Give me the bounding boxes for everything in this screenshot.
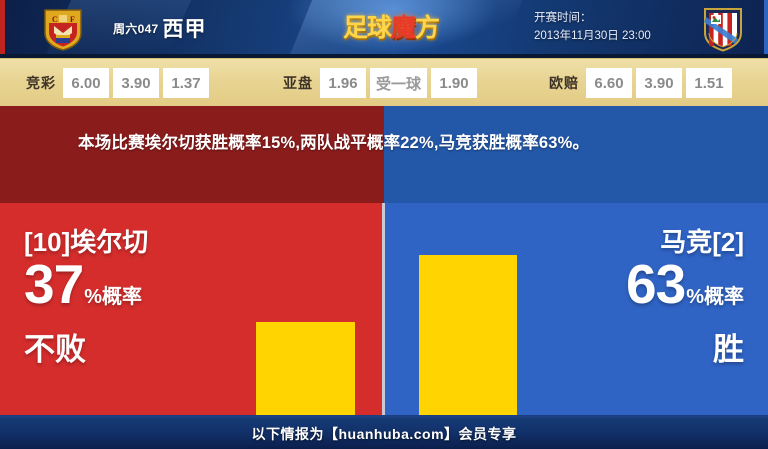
probability-chart: [10]埃尔切 37%概率 不败 马竞[2] 63%概率 胜 (0, 203, 768, 415)
kickoff-label: 开赛时间： (534, 9, 651, 27)
away-probability-bar (419, 255, 517, 415)
logo-text-part3: 方 (415, 14, 439, 42)
odds-cell[interactable]: 3.90 (113, 68, 159, 98)
match-forecast-card: C F 周六047西甲 足球魔方 开赛时间： 2013年11月30日 23:00 (0, 0, 768, 449)
round-label: 周六047 (113, 22, 159, 36)
svg-text:F: F (70, 15, 75, 24)
kickoff-time: 开赛时间： 2013年11月30日 23:00 (534, 9, 651, 45)
summary-text: 本场比赛埃尔切获胜概率15%,两队战平概率22%,马竞获胜概率63%。 (78, 128, 718, 158)
odds-group-yapan: 亚盘 1.96 受一球 1.90 (283, 68, 481, 98)
site-logo[interactable]: 足球魔方 (332, 7, 450, 51)
odds-cell[interactable]: 6.60 (586, 68, 632, 98)
league-info: 周六047西甲 (113, 13, 207, 43)
league-name: 西甲 (163, 18, 207, 41)
away-verdict: 胜 (626, 330, 744, 370)
odds-cell[interactable]: 6.00 (63, 68, 109, 98)
odds-group-label: 竞彩 (26, 73, 56, 93)
logo-text-part2: 魔 (391, 14, 415, 42)
panel-divider (382, 203, 385, 415)
odds-group-jingcai: 竞彩 6.00 3.90 1.37 (26, 68, 213, 98)
away-team-info: 马竞[2] 63%概率 胜 (626, 227, 744, 370)
away-probability-unit: %概率 (686, 286, 744, 308)
elche-cf-crest-icon: C F (40, 6, 86, 52)
svg-text:C: C (52, 15, 58, 24)
odds-group-label: 亚盘 (283, 73, 313, 93)
home-probability-unit: %概率 (84, 286, 142, 308)
home-probability-value: 37 (24, 253, 83, 315)
odds-cell[interactable]: 1.90 (431, 68, 477, 98)
odds-bar: 竞彩 6.00 3.90 1.37 亚盘 1.96 受一球 1.90 欧赔 6.… (0, 58, 768, 107)
odds-group-label: 欧赔 (549, 73, 579, 93)
home-probability-bar (256, 322, 355, 415)
away-probability-value: 63 (626, 253, 685, 315)
odds-cell-handicap[interactable]: 受一球 (370, 68, 427, 98)
logo-text-part1: 足球 (343, 14, 391, 42)
atletico-madrid-crest-icon (702, 6, 744, 52)
odds-cell[interactable]: 3.90 (636, 68, 682, 98)
home-probability-row: 37%概率 (24, 257, 148, 326)
kickoff-value: 2013年11月30日 23:00 (534, 27, 651, 45)
home-team-info: [10]埃尔切 37%概率 不败 (24, 227, 148, 370)
header-bar: C F 周六047西甲 足球魔方 开赛时间： 2013年11月30日 23:00 (0, 0, 768, 58)
odds-cell[interactable]: 1.37 (163, 68, 209, 98)
odds-cell[interactable]: 1.96 (320, 68, 366, 98)
away-probability-row: 63%概率 (626, 257, 744, 326)
odds-group-oupei: 欧赔 6.60 3.90 1.51 (549, 68, 736, 98)
home-verdict: 不败 (24, 330, 148, 370)
header-right-accent (764, 0, 768, 58)
footer-notice: 以下情报为【huanhuba.com】会员专享 (0, 424, 768, 444)
header-left-accent (0, 0, 5, 58)
summary-band: 本场比赛埃尔切获胜概率15%,两队战平概率22%,马竞获胜概率63%。 (0, 106, 768, 203)
odds-cell[interactable]: 1.51 (686, 68, 732, 98)
